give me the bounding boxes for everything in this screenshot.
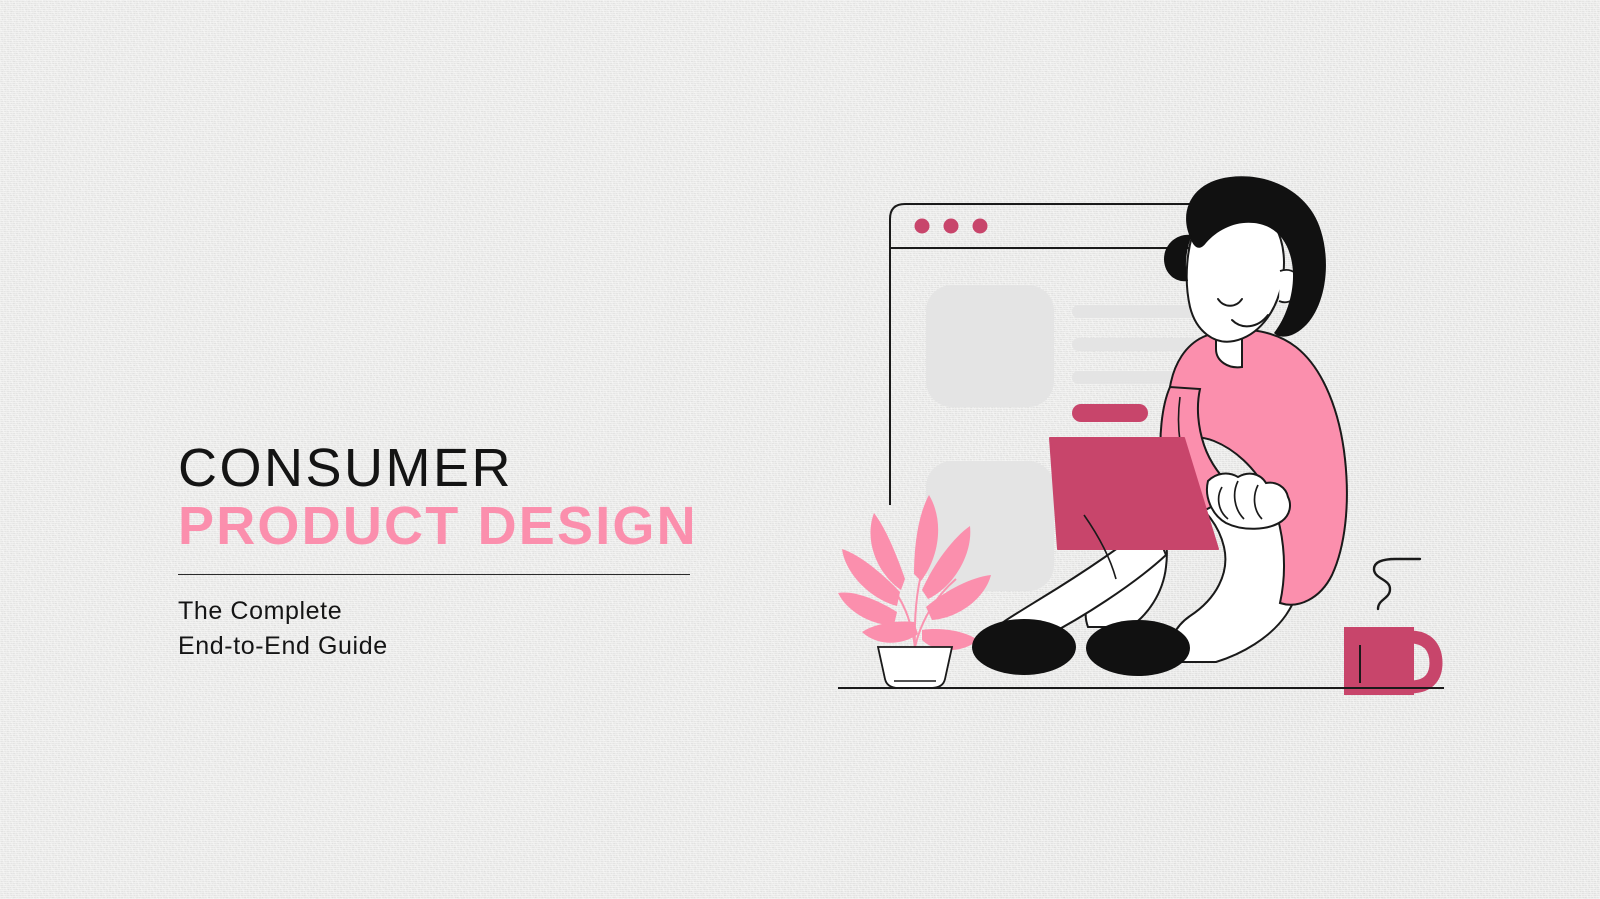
banner-canvas: CONSUMER PRODUCT DESIGN The Complete End… [0, 0, 1600, 899]
person-shoe-right [1086, 620, 1190, 676]
person-shoe-left [972, 619, 1076, 675]
title-text-block: CONSUMER PRODUCT DESIGN The Complete End… [178, 440, 718, 665]
cta-button[interactable] [1072, 404, 1148, 422]
mug-steam-icon [1374, 559, 1420, 609]
placeholder-card-1[interactable] [926, 285, 1054, 407]
headline-line-2: PRODUCT DESIGN [178, 496, 718, 556]
browser-dot-icon-2[interactable] [944, 219, 959, 234]
coffee-mug [1344, 559, 1436, 695]
browser-dot-icon-1[interactable] [915, 219, 930, 234]
subtitle-block: The Complete End-to-End Guide [178, 594, 718, 665]
mug-body [1344, 627, 1414, 695]
text-bar-2 [1072, 338, 1200, 351]
person-with-laptop [972, 176, 1347, 676]
title-divider-rule [178, 574, 690, 575]
hero-illustration [818, 175, 1478, 705]
subtitle-line-2: End-to-End Guide [178, 629, 718, 665]
browser-dot-icon-3[interactable] [973, 219, 988, 234]
text-bar-1 [1072, 305, 1200, 318]
subtitle-line-1: The Complete [178, 594, 718, 630]
headline-line-1: CONSUMER [178, 440, 718, 496]
plant-pot [878, 647, 952, 688]
